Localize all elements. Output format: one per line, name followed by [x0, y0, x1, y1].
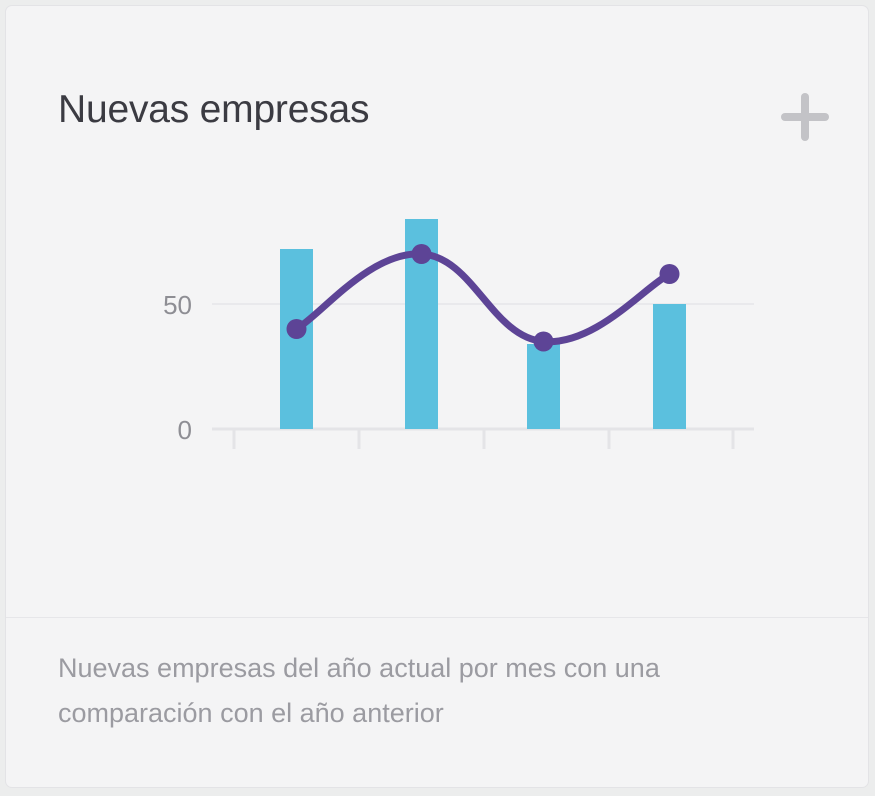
line-point-4[interactable]	[660, 264, 680, 284]
y-axis-label-0: 0	[178, 415, 192, 445]
line-point-2[interactable]	[412, 244, 432, 264]
new-companies-card: Nuevas empresas 50 0	[5, 5, 869, 788]
card-divider	[6, 617, 869, 618]
card-footer: Nuevas empresas del año actual por mes c…	[58, 646, 778, 736]
chart-x-ticks	[234, 430, 733, 449]
chart-container: 50 0	[6, 186, 869, 476]
bar-series-current-year	[280, 219, 686, 429]
line-series-previous-year	[297, 254, 670, 342]
combo-chart: 50 0	[6, 186, 869, 476]
card-description: Nuevas empresas del año actual por mes c…	[58, 646, 778, 736]
line-point-3[interactable]	[534, 332, 554, 352]
page-title: Nuevas empresas	[58, 88, 369, 132]
bar-4[interactable]	[653, 304, 686, 429]
plus-icon-vertical-stroke	[801, 93, 809, 141]
line-point-1[interactable]	[287, 319, 307, 339]
plus-icon[interactable]	[776, 88, 834, 146]
y-axis-label-50: 50	[163, 290, 192, 320]
bar-3[interactable]	[527, 344, 560, 429]
card-header: Nuevas empresas	[6, 6, 868, 206]
